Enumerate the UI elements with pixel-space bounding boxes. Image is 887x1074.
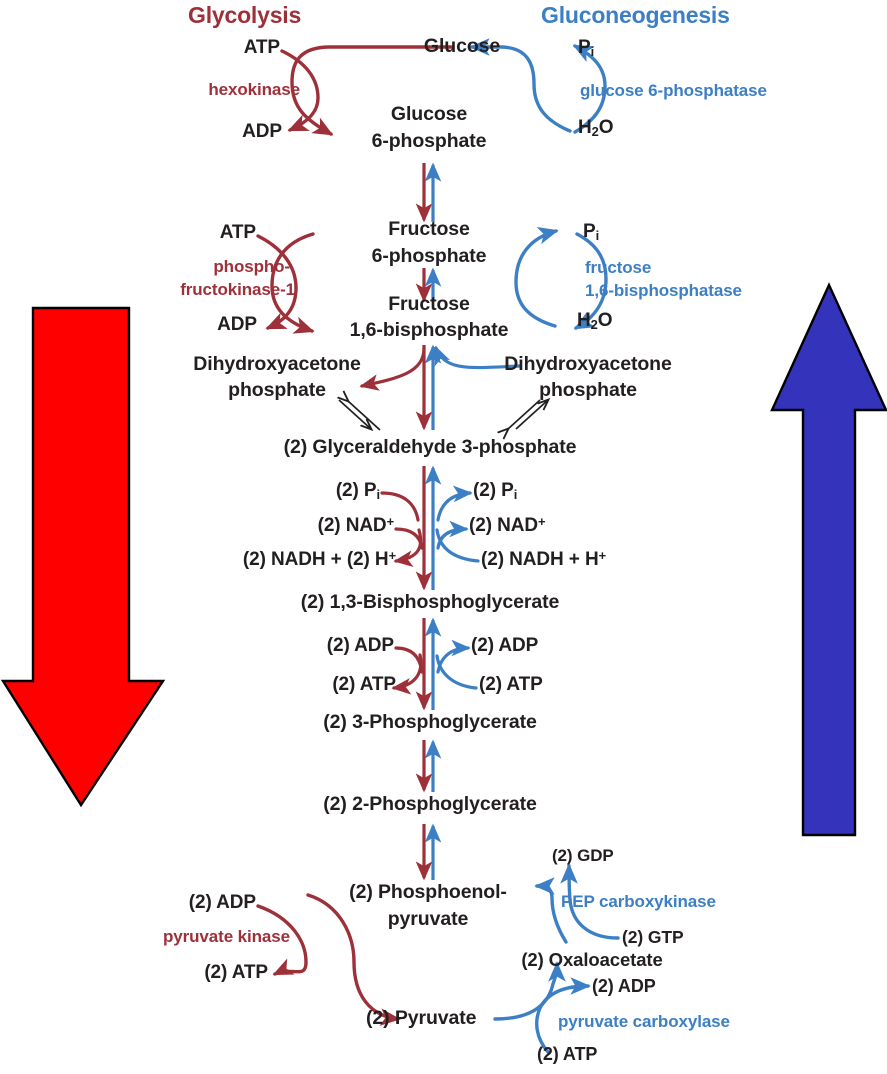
cofactor-2-adp-pyruvate-carboxylase: (2) ADP bbox=[592, 977, 656, 996]
cofactor-2-nad-left: (2) NAD+ bbox=[318, 515, 394, 536]
cofactor-adp-hexokinase: ADP bbox=[242, 122, 282, 142]
enzyme-pep-carboxykinase: PEP carboxykinase bbox=[561, 893, 716, 911]
metabolite-dhap-left-line2: phosphate bbox=[228, 380, 326, 401]
cofactor-2-gtp: (2) GTP bbox=[622, 928, 684, 947]
gluconeogenesis-direction-arrow bbox=[772, 285, 886, 835]
dhap-branch-curves bbox=[362, 348, 520, 386]
cofactor-atp-hexokinase: ATP bbox=[244, 38, 280, 58]
cofactor-2-atp-pyruvate-carboxylase: (2) ATP bbox=[537, 1045, 597, 1064]
enzyme-fbpase-line1: fructose bbox=[585, 259, 651, 277]
metabolite-dhap-right-line2: phosphate bbox=[539, 380, 637, 401]
enzyme-pfk1-line1: phospho- bbox=[213, 258, 290, 276]
cofactor-h2o-fbpase: H2O bbox=[577, 311, 612, 332]
cofactor-adp-pfk1: ADP bbox=[217, 315, 257, 335]
enzyme-glucose-6-phosphatase: glucose 6-phosphatase bbox=[580, 82, 767, 100]
metabolite-glucose: Glucose bbox=[424, 36, 500, 57]
step-pyruvate-carboxylase-curves bbox=[495, 964, 588, 1052]
cofactor-2-atp-left-pgk: (2) ATP bbox=[332, 675, 396, 695]
metabolite-dhap-left-line1: Dihydroxyacetone bbox=[193, 354, 360, 375]
cofactor-atp-pfk1: ATP bbox=[220, 223, 256, 243]
connector-bpg13-pg3 bbox=[424, 618, 433, 710]
metabolite-1-3-bisphosphoglycerate: (2) 1,3-Bisphosphoglycerate bbox=[301, 592, 559, 613]
metabolite-3-phosphoglycerate: (2) 3-Phosphoglycerate bbox=[323, 712, 536, 733]
metabolite-2-phosphoglycerate: (2) 2-Phosphoglycerate bbox=[323, 794, 536, 815]
metabolite-pyruvate: (2) Pyruvate bbox=[366, 1008, 476, 1029]
connector-pg2-pep bbox=[424, 824, 433, 880]
cofactor-2-pi-left: (2) Pi bbox=[336, 481, 380, 502]
metabolite-oxaloacetate: (2) Oxaloacetate bbox=[521, 950, 662, 970]
connector-g6p-f6p bbox=[424, 163, 433, 222]
title-glycolysis: Glycolysis bbox=[188, 3, 301, 27]
enzyme-pfk1-line2: fructokinase-1 bbox=[180, 281, 295, 299]
enzyme-fbpase-line2: 1,6-bisphosphatase bbox=[585, 282, 742, 300]
cofactor-pi-fbpase: Pi bbox=[583, 222, 599, 243]
cofactor-2-nadh-2h-left: (2) NADH + (2) H+ bbox=[243, 549, 396, 570]
metabolite-glucose-6-phosphate-line1: Glucose bbox=[391, 104, 467, 125]
connector-g3p-bpg13 bbox=[424, 466, 433, 590]
title-gluconeogenesis: Gluconeogenesis bbox=[541, 3, 730, 27]
metabolite-phosphoenolpyruvate-line1: (2) Phosphoenol- bbox=[349, 882, 507, 903]
metabolite-glucose-6-phosphate-line2: 6-phosphate bbox=[372, 131, 487, 152]
enzyme-hexokinase: hexokinase bbox=[208, 81, 300, 99]
glycolysis-direction-arrow bbox=[3, 308, 163, 805]
backbone-connectors bbox=[424, 163, 433, 880]
metabolite-fructose-6-phosphate-line2: 6-phosphate bbox=[372, 246, 487, 267]
connector-pg3-pg2 bbox=[424, 740, 433, 792]
pathway-diagram: Glycolysis Gluconeogenesis Glucose ATP A… bbox=[0, 0, 887, 1074]
metabolite-fructose-1-6-bisphosphate-line1: Fructose bbox=[388, 294, 470, 315]
enzyme-pyruvate-kinase: pyruvate kinase bbox=[163, 928, 290, 946]
cofactor-2-nadh-h-right: (2) NADH + H+ bbox=[481, 549, 606, 570]
step-pyruvate-kinase-curves bbox=[258, 895, 398, 1019]
cofactor-h2o-g6pase: H2O bbox=[578, 118, 613, 139]
metabolite-fructose-1-6-bisphosphate-line2: 1,6-bisphosphate bbox=[350, 320, 509, 341]
cofactor-2-atp-right-pgk: (2) ATP bbox=[479, 675, 543, 695]
triose-isomerase-equilibrium-right bbox=[508, 400, 548, 429]
cofactor-2-adp-left-pgk: (2) ADP bbox=[327, 636, 394, 656]
cofactor-pi-g6pase: Pi bbox=[578, 38, 594, 59]
cofactor-2-nad-right: (2) NAD+ bbox=[469, 515, 545, 536]
cofactor-2-adp-pyruvate-kinase: (2) ADP bbox=[189, 893, 256, 913]
metabolite-glyceraldehyde-3-phosphate: (2) Glyceraldehyde 3-phosphate bbox=[284, 437, 577, 458]
pgk-cofactor-curves-left bbox=[394, 648, 422, 688]
triose-isomerase-equilibrium-left bbox=[339, 400, 380, 430]
enzyme-pyruvate-carboxylase: pyruvate carboxylase bbox=[558, 1013, 730, 1031]
cofactor-2-atp-pyruvate-kinase: (2) ATP bbox=[204, 963, 268, 983]
cofactor-2-pi-right: (2) Pi bbox=[473, 481, 517, 502]
cofactor-2-gdp: (2) GDP bbox=[552, 847, 614, 865]
metabolite-fructose-6-phosphate-line1: Fructose bbox=[388, 219, 470, 240]
metabolite-dhap-right-line1: Dihydroxyacetone bbox=[504, 354, 671, 375]
cofactor-2-adp-right-pgk: (2) ADP bbox=[471, 636, 538, 656]
metabolite-phosphoenolpyruvate-line2: pyruvate bbox=[388, 909, 469, 930]
connector-f16bp-g3p bbox=[424, 345, 433, 430]
